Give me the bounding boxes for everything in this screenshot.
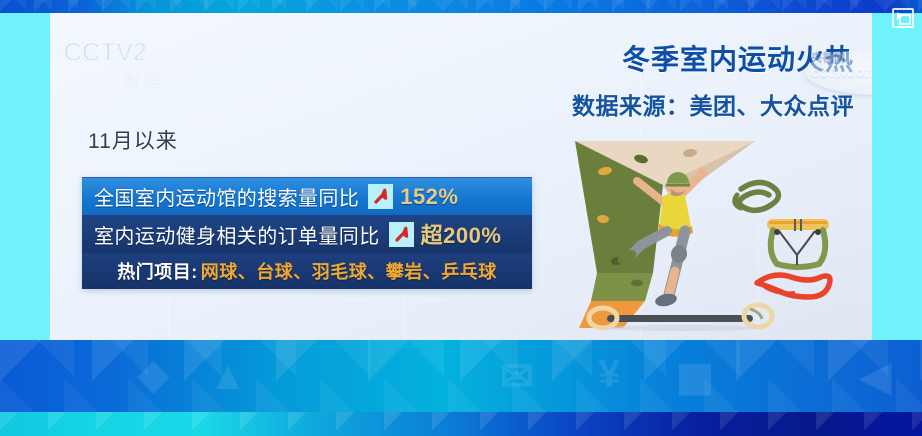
bottom-decorative-banner: ¥ ▮▮ ◆ ▲ ✉ ◀ — [0, 340, 922, 436]
mail-icon: ✉ — [500, 354, 534, 400]
graphic-canvas: CCTV2 财经 冬季室内运动火热 数据来源：美团、大众点评 央视网 cctv.… — [50, 13, 872, 340]
triangle-up-icon: ▲ — [208, 354, 248, 399]
stat-value: 152% — [400, 184, 458, 210]
diamond-icon: ◆ — [138, 352, 169, 398]
top-gradient-strip — [0, 0, 922, 13]
arrow-left-icon: ◀ — [860, 354, 891, 400]
headline-block: 冬季室内运动火热 数据来源：美团、大众点评 — [424, 43, 854, 121]
broadcast-screen: CCTV2 财经 冬季室内运动火热 数据来源：美团、大众点评 央视网 cctv.… — [0, 0, 922, 436]
cctv-logo-number: 2 — [133, 37, 147, 67]
stat-value: 超200% — [421, 218, 502, 250]
up-right-arrow-icon — [368, 184, 393, 209]
hot-projects-items: 网球、台球、羽毛球、攀岩、乒乓球 — [201, 258, 497, 284]
cctv-logo-subtitle: 财经 — [63, 71, 211, 91]
banner-under-strip — [0, 412, 922, 436]
cctv-channel-logo: CCTV2 财经 — [63, 37, 211, 103]
up-right-arrow-icon — [389, 222, 414, 247]
yen-symbol-icon: ¥ — [598, 352, 620, 397]
stat-label: 室内运动健身相关的订单量同比 — [94, 220, 380, 249]
hot-projects-label: 热门项目: — [117, 258, 198, 284]
stats-panel: 全国室内运动馆的搜索量同比 152% 室内运动健身相关的订单量同比 超200% — [82, 177, 532, 289]
bar-chart-icon: ▮▮ — [676, 354, 708, 400]
rock-climbing-illustration — [545, 123, 865, 333]
stat-row-order-volume: 室内运动健身相关的订单量同比 超200% — [82, 215, 532, 253]
page-title: 冬季室内运动火热 — [424, 43, 854, 77]
stat-row-search-volume: 全国室内运动馆的搜索量同比 152% — [82, 177, 532, 215]
stat-label: 全国室内运动馆的搜索量同比 — [94, 182, 359, 211]
right-cyan-band — [872, 13, 922, 340]
hot-projects-row: 热门项目: 网球、台球、羽毛球、攀岩、乒乓球 — [82, 253, 532, 289]
period-label: 11月以来 — [88, 125, 178, 155]
cctv-logo-text: CCTV — [63, 37, 133, 67]
cctv-logo-mark: CCTV2 — [63, 37, 211, 68]
left-cyan-band — [0, 13, 50, 340]
picture-in-picture-icon[interactable] — [892, 8, 914, 28]
data-source-line: 数据来源：美团、大众点评 — [424, 87, 854, 121]
